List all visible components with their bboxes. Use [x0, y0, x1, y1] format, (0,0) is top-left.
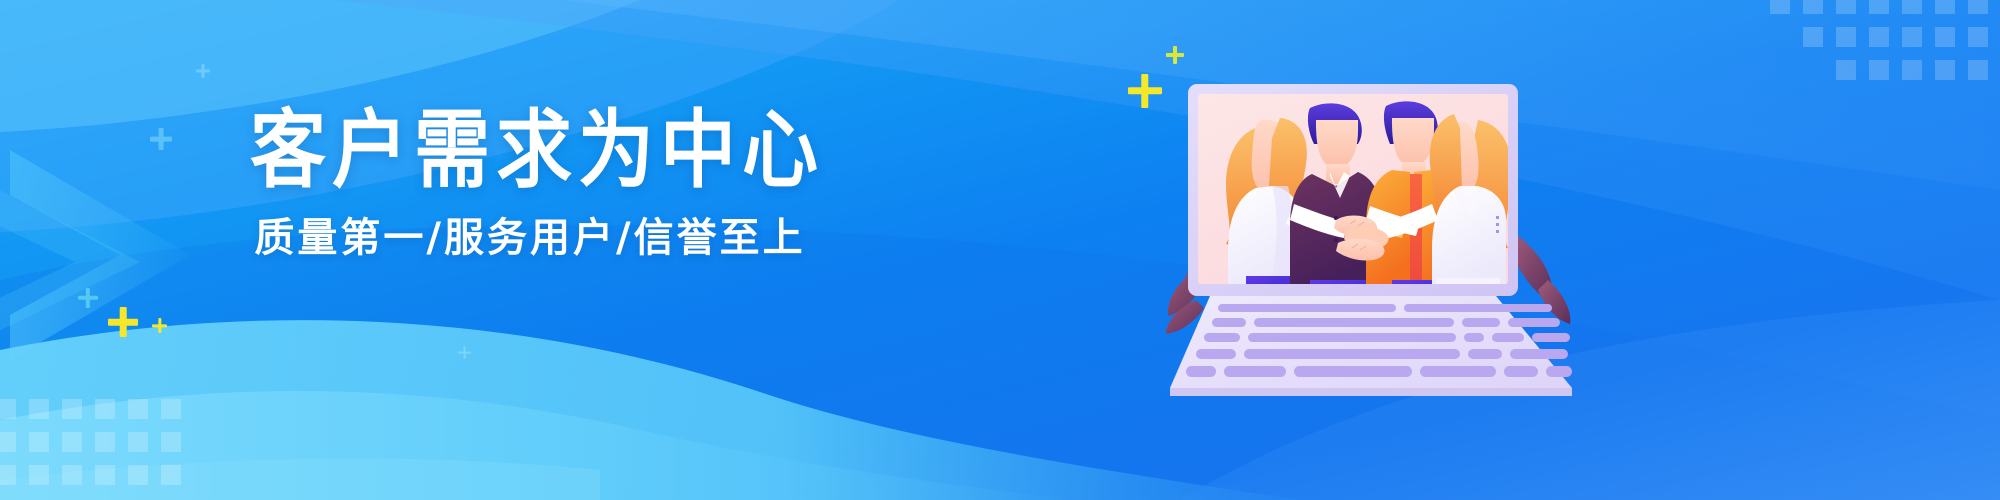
laptop-illustration — [1160, 68, 1580, 398]
banner-headline: 客户需求为中心 — [250, 108, 810, 193]
laptop-keyboard — [1170, 296, 1572, 396]
banner-copy: 客户需求为中心 质量第一/服务用户/信誉至上 — [250, 108, 810, 258]
promo-banner: 客户需求为中心 质量第一/服务用户/信誉至上 — [0, 0, 2000, 500]
banner-subline: 质量第一/服务用户/信誉至上 — [250, 218, 810, 258]
